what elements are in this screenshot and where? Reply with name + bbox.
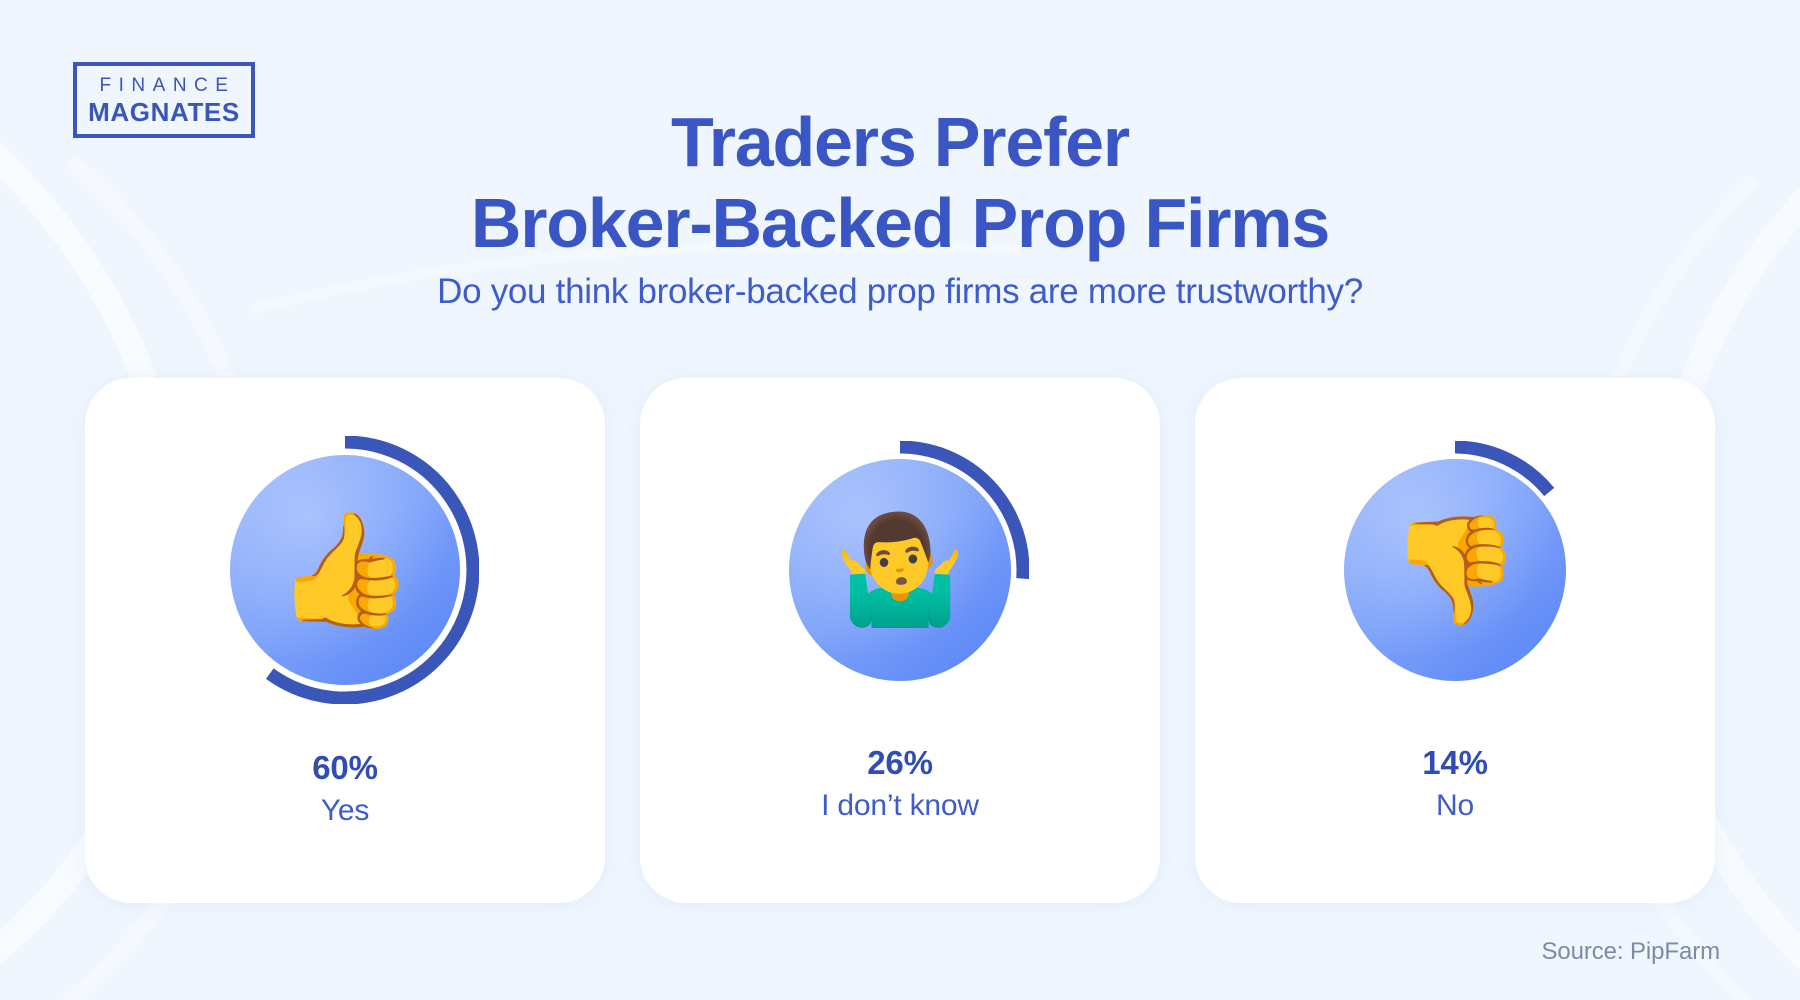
stat-card-row: 👍 60% Yes	[85, 378, 1715, 903]
person-shrugging-emoji: 🤷‍♂️	[771, 441, 1029, 699]
stat-card-no: 👎 14% No	[1195, 378, 1715, 903]
stat-percent-no: 14%	[1422, 743, 1487, 783]
stat-label-no: No	[1436, 788, 1474, 824]
stat-card-yes: 👍 60% Yes	[85, 378, 605, 903]
donut-chart-no: 👎	[1326, 441, 1584, 699]
thumbs-up-emoji: 👍	[211, 436, 479, 704]
source-attribution: Source: PipFarm	[1541, 938, 1720, 966]
stat-percent-yes: 60%	[312, 748, 377, 788]
logo-text-finance: FINANCE	[93, 76, 236, 95]
page-title-line-2: Broker-Backed Prop Firms	[0, 183, 1800, 264]
thumbs-down-emoji: 👎	[1326, 441, 1584, 699]
stat-label-yes: Yes	[321, 793, 369, 829]
page-title-line-1: Traders Prefer	[0, 102, 1800, 183]
donut-chart-i-dont-know: 🤷‍♂️	[771, 441, 1029, 699]
stat-label-i-dont-know: I don’t know	[821, 788, 979, 824]
stat-percent-i-dont-know: 26%	[867, 743, 932, 783]
donut-chart-yes: 👍	[211, 436, 479, 704]
page-title: Traders Prefer Broker-Backed Prop Firms	[0, 102, 1800, 264]
page-subtitle: Do you think broker-backed prop firms ar…	[0, 272, 1800, 312]
stat-card-i-dont-know: 🤷‍♂️ 26% I don’t know	[640, 378, 1160, 903]
